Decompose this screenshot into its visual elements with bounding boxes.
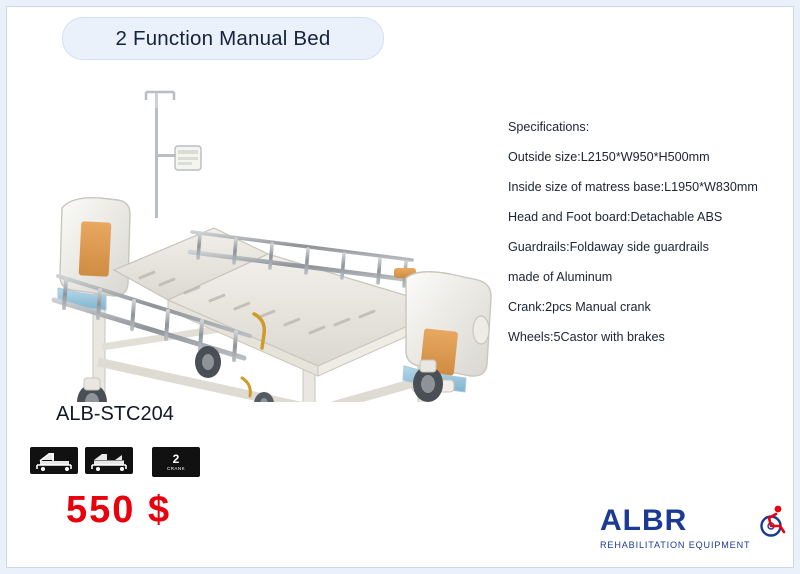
crank-count-badge: 2 CRANK <box>152 447 200 477</box>
feature-badges: 2 CRANK <box>30 447 200 477</box>
bed-legrest-up-icon <box>85 447 133 474</box>
brand-name: ALBR <box>600 504 687 537</box>
spec-line-outside-size: Outside size:L2150*W950*H500mm <box>508 142 800 172</box>
crank-count-label: CRANK <box>167 467 185 472</box>
product-model-number: ALB-STC204 <box>56 403 174 426</box>
brand-logo: ALBR REHABILITATION EQUIPMENT <box>600 506 792 550</box>
crank-count-value: 2 <box>173 453 180 465</box>
page-title-text: 2 Function Manual Bed <box>115 27 330 51</box>
spec-line-inside-size: Inside size of matress base:L1950*W830mm <box>508 172 800 202</box>
spec-line-wheels: Wheels:5Castor with brakes <box>508 322 800 352</box>
product-image <box>18 62 498 402</box>
brand-logo-row: ALBR <box>600 506 792 538</box>
specifications-block: Specifications: Outside size:L2150*W950*… <box>508 112 800 352</box>
bed-mattress-platform <box>114 228 448 376</box>
spec-line-guardrails-material: made of Aluminum <box>508 262 800 292</box>
iv-pole-icon <box>146 92 201 218</box>
spec-line-boards: Head and Foot board:Detachable ABS <box>508 202 800 232</box>
page-title: 2 Function Manual Bed <box>62 17 384 60</box>
hospital-bed-illustration <box>18 62 498 402</box>
product-flyer: 2 Function Manual Bed <box>0 0 800 574</box>
spec-line-guardrails: Guardrails:Foldaway side guardrails <box>508 232 800 262</box>
product-price: 550 $ <box>66 489 171 532</box>
wheelchair-icon <box>756 504 790 543</box>
spec-line-crank: Crank:2pcs Manual crank <box>508 292 800 322</box>
bed-backrest-up-icon <box>30 447 78 474</box>
specifications-heading: Specifications: <box>508 112 800 142</box>
